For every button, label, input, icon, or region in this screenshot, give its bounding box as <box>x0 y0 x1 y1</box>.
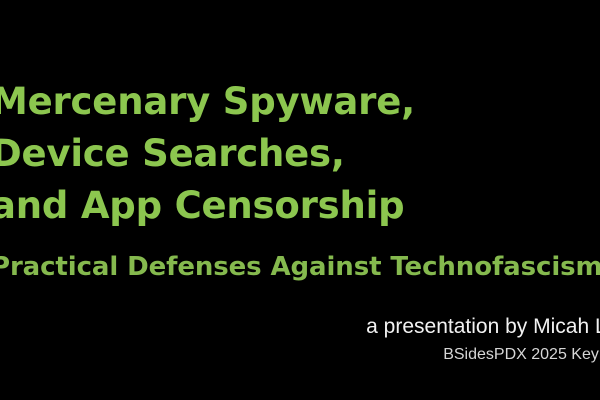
title-line-3: and App Censorship <box>0 180 600 232</box>
presenter-credit: a presentation by Micah Lee <box>210 312 600 342</box>
title-line-1: Mercenary Spyware, <box>0 76 600 128</box>
slide-title: Mercenary Spyware, Device Searches, and … <box>0 76 600 232</box>
slide-credits: a presentation by Micah Lee BSidesPDX 20… <box>210 312 600 368</box>
slide-subtitle: Practical Defenses Against Technofascism <box>0 248 600 286</box>
event-credit: BSidesPDX 2025 Keynote <box>210 342 600 368</box>
title-line-2: Device Searches, <box>0 128 600 180</box>
presentation-title-slide: Mercenary Spyware, Device Searches, and … <box>0 0 600 400</box>
